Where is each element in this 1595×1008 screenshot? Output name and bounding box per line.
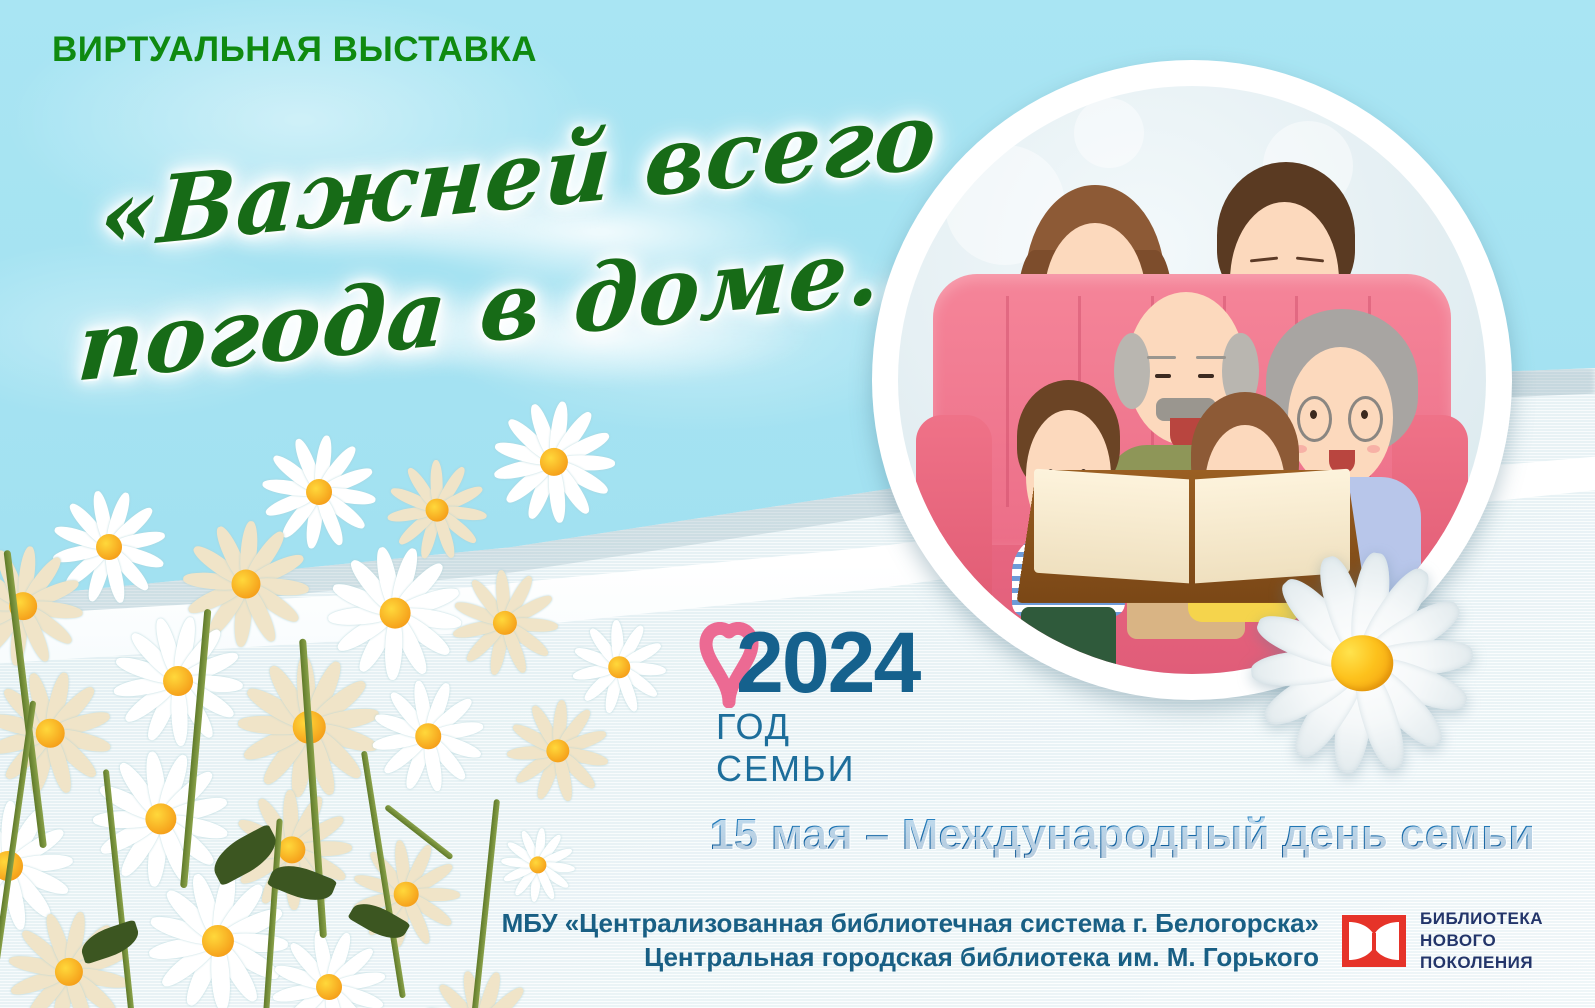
logo-year: 2024 [736, 614, 919, 713]
daisy-flower-icon [370, 678, 486, 794]
partner-line-2: НОВОГО [1420, 930, 1543, 952]
daisy-flower-icon [570, 618, 668, 716]
event-date: 15 мая – Международный день семьи [0, 810, 1535, 860]
hero-daisy-center [1331, 635, 1393, 691]
open-book-icon [1340, 913, 1408, 969]
daisy-center [306, 479, 332, 505]
poster-canvas: ВИРТУАЛЬНАЯ ВЫСТАВКА «Важней всего погод… [0, 0, 1595, 1008]
organization-footer: МБУ «Централизованная библиотечная систе… [0, 906, 1319, 975]
daisy-center [380, 598, 411, 629]
daisy-center [316, 974, 342, 1000]
daisy-flower-icon [450, 568, 560, 678]
daisy-center [36, 719, 65, 748]
logo-year-subtitle: ГОД СЕМЬИ [716, 706, 906, 790]
footer-line-1: МБУ «Централизованная библиотечная систе… [0, 906, 1319, 940]
partner-line-1: БИБЛИОТЕКА [1420, 908, 1543, 930]
daisy-center [163, 666, 193, 696]
sofa-arm-left [916, 415, 992, 662]
daisy-flower-icon [490, 398, 618, 526]
partner-logo: БИБЛИОТЕКА НОВОГО ПОКОЛЕНИЯ [1340, 908, 1543, 973]
footer-line-2: Центральная городская библиотека им. М. … [0, 940, 1319, 974]
daisy-center [394, 882, 419, 907]
daisy-center [608, 656, 630, 678]
partner-logo-text: БИБЛИОТЕКА НОВОГО ПОКОЛЕНИЯ [1420, 908, 1543, 973]
daisy-center [415, 723, 441, 749]
daisy-center [231, 569, 260, 598]
daisy-flower-icon [110, 613, 246, 749]
kicker-label: ВИРТУАЛЬНАЯ ВЫСТАВКА [52, 30, 537, 70]
daisy-center [96, 534, 122, 560]
partner-line-3: ПОКОЛЕНИЯ [1420, 952, 1543, 974]
hero-daisy-icon [1248, 552, 1476, 774]
year-of-family-logo: 2024 ГОД СЕМЬИ [696, 614, 906, 764]
daisy-center [426, 499, 449, 522]
